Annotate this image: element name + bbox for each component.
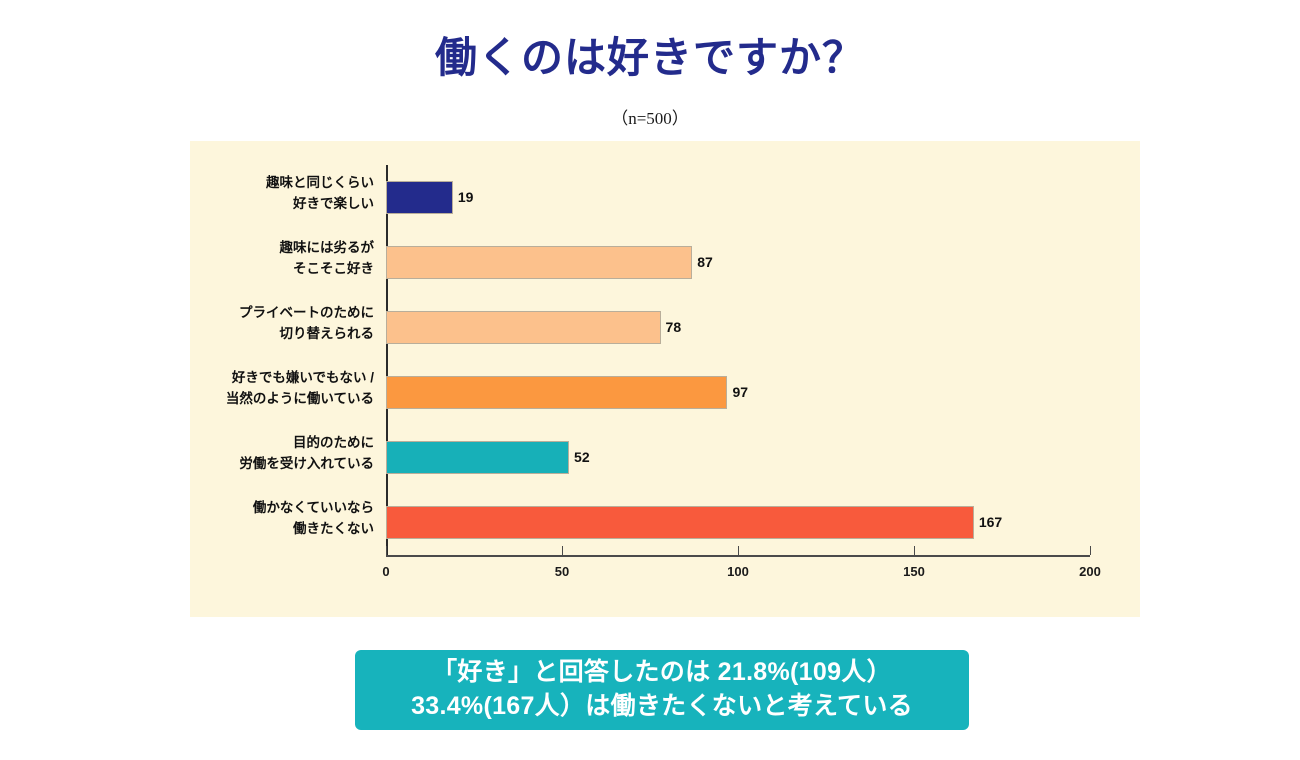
category-label-line-1: 働かなくていいなら — [174, 498, 374, 519]
x-axis-tick-label: 50 — [555, 564, 569, 579]
chart-panel: 05010015020019趣味と同じくらい好きで楽しい87趣味には劣るがそこそ… — [190, 141, 1140, 617]
category-label-line-1: 趣味と同じくらい — [174, 173, 374, 194]
bar-value-label: 78 — [661, 311, 682, 344]
bar-value-label: 87 — [692, 246, 713, 279]
x-axis-tick-label: 200 — [1079, 564, 1101, 579]
bar-value-label: 167 — [974, 506, 1002, 539]
x-axis-tick — [1090, 546, 1091, 555]
category-label: 好きでも嫌いでもない /当然のように働いている — [174, 368, 374, 410]
chart-subtitle-sample-size: （n=500） — [0, 104, 1300, 129]
summary-banner: 「好き」と回答したのは 21.8%(109人） 33.4%(167人）は働きたく… — [355, 650, 969, 730]
category-label-line-2: 切り替えられる — [174, 324, 374, 345]
bar-value-label: 52 — [569, 441, 590, 474]
bar[interactable] — [386, 181, 453, 214]
category-label: 趣味には劣るがそこそこ好き — [174, 238, 374, 280]
x-axis-tick-label: 150 — [903, 564, 925, 579]
bar-row: 78 — [386, 295, 1090, 360]
category-label-line-2: 労働を受け入れている — [174, 454, 374, 475]
x-axis-tick-label: 0 — [382, 564, 389, 579]
category-label: 働かなくていいなら働きたくない — [174, 498, 374, 540]
bar[interactable] — [386, 376, 727, 409]
bar-value-label: 97 — [727, 376, 748, 409]
x-axis-line — [386, 555, 1090, 557]
category-label-line-1: プライベートのために — [174, 303, 374, 324]
category-label: プライベートのために切り替えられる — [174, 303, 374, 345]
summary-banner-line-2: 33.4%(167人）は働きたくないと考えている — [411, 690, 913, 724]
category-label: 趣味と同じくらい好きで楽しい — [174, 173, 374, 215]
bar-row: 87 — [386, 230, 1090, 295]
bar[interactable] — [386, 246, 692, 279]
bar[interactable] — [386, 311, 661, 344]
bar[interactable] — [386, 506, 974, 539]
category-label: 目的のために労働を受け入れている — [174, 433, 374, 475]
summary-banner-line-1: 「好き」と回答したのは 21.8%(109人） — [432, 656, 892, 690]
category-label-line-2: 当然のように働いている — [174, 389, 374, 410]
bar-value-label: 19 — [453, 181, 474, 214]
plot-area: 05010015020019趣味と同じくらい好きで楽しい87趣味には劣るがそこそ… — [386, 165, 1090, 555]
category-label-line-1: 好きでも嫌いでもない / — [174, 368, 374, 389]
bar-row: 97 — [386, 360, 1090, 425]
page-title: 働くのは好きですか？ — [0, 34, 1300, 82]
category-label-line-1: 趣味には劣るが — [174, 238, 374, 259]
category-label-line-1: 目的のために — [174, 433, 374, 454]
category-label-line-2: そこそこ好き — [174, 259, 374, 280]
x-axis-tick-label: 100 — [727, 564, 749, 579]
category-label-line-2: 働きたくない — [174, 519, 374, 540]
bar[interactable] — [386, 441, 569, 474]
category-label-line-2: 好きで楽しい — [174, 194, 374, 215]
bar-row: 167 — [386, 490, 1090, 555]
bar-row: 19 — [386, 165, 1090, 230]
bar-row: 52 — [386, 425, 1090, 490]
